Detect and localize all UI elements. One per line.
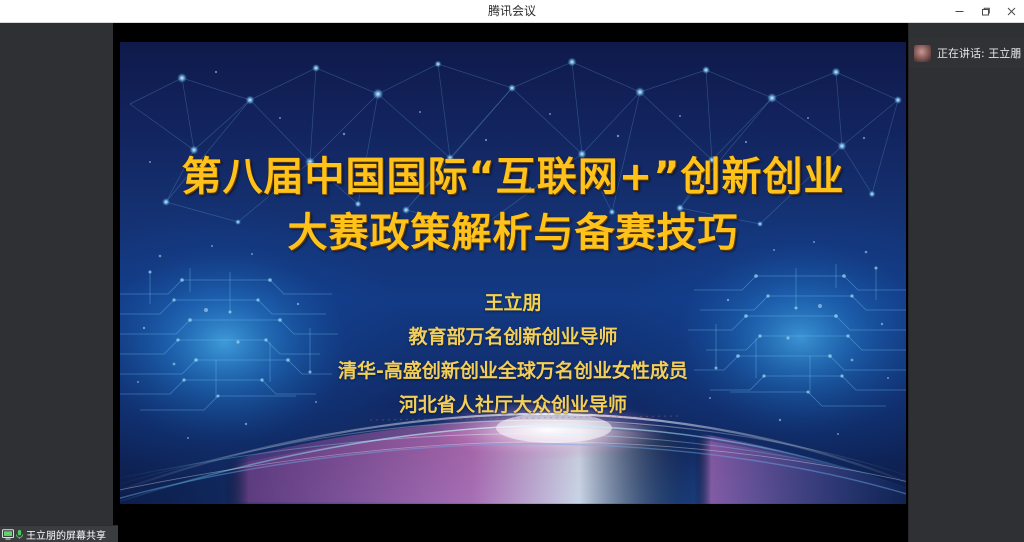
shared-screen-stage[interactable]: 第八届中国国际“互联网+”创新创业 大赛政策解析与备赛技巧 王立朋 教育部万名创…	[113, 23, 908, 542]
slide-title-line-1: 第八届中国国际“互联网+”创新创业	[120, 144, 906, 202]
maximize-icon	[980, 6, 991, 17]
slide-title-line-2: 大赛政策解析与备赛技巧	[120, 200, 906, 258]
microphone-icon	[1009, 46, 1024, 61]
active-speaker-tile[interactable]: 正在讲话: 王立朋	[909, 38, 1024, 68]
window-titlebar: 腾讯会议	[0, 0, 1024, 23]
left-gutter-panel	[0, 23, 113, 542]
slide-credential-line-2: 清华-高盛创新创业全球万名创业女性成员	[120, 356, 906, 383]
slide-credential-line-1: 教育部万名创新创业导师	[120, 322, 906, 349]
participants-sidebar: 正在讲话: 王立朋	[908, 23, 1024, 542]
close-icon	[1006, 6, 1017, 17]
avatar-icon	[914, 45, 931, 62]
screen-share-label: 王立朋的屏幕共享	[26, 527, 106, 542]
slide-presenter-name: 王立朋	[120, 288, 906, 315]
screen-share-icon	[2, 529, 14, 540]
slide-credential-line-3: 河北省人社厅大众创业导师	[120, 390, 906, 417]
maximize-button[interactable]	[972, 0, 998, 23]
window-title: 腾讯会议	[0, 0, 1024, 23]
presentation-slide: 第八届中国国际“互联网+”创新创业 大赛政策解析与备赛技巧 王立朋 教育部万名创…	[120, 42, 906, 504]
minimize-button[interactable]	[946, 0, 972, 23]
close-button[interactable]	[998, 0, 1024, 23]
window-controls	[946, 0, 1024, 23]
meeting-window-body: 第八届中国国际“互联网+”创新创业 大赛政策解析与备赛技巧 王立朋 教育部万名创…	[0, 23, 1024, 542]
minimize-icon	[954, 6, 965, 17]
screen-share-status-bar[interactable]: 王立朋的屏幕共享	[0, 525, 118, 542]
slide-text-content: 第八届中国国际“互联网+”创新创业 大赛政策解析与备赛技巧 王立朋 教育部万名创…	[120, 42, 906, 504]
microphone-icon	[15, 529, 24, 540]
